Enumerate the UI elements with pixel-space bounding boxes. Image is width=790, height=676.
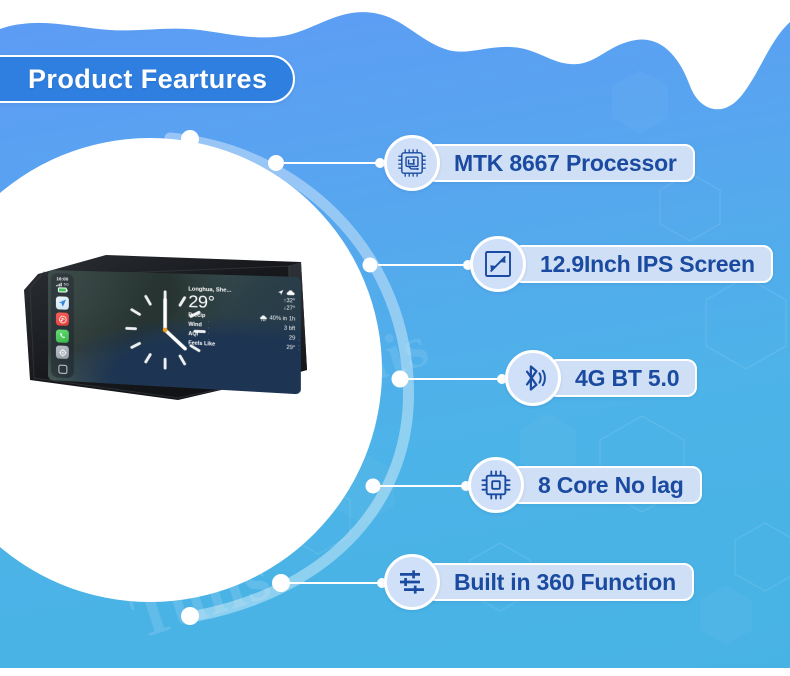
weather-temp: 29° xyxy=(188,292,214,311)
bluetooth-icon xyxy=(505,350,561,406)
feature-row-360[interactable]: Built in 360 Function xyxy=(384,554,694,610)
weather-row-label: Wind xyxy=(188,322,201,329)
gear-icon xyxy=(58,348,66,356)
feature-pill-processor[interactable]: MTK 8667 Processor xyxy=(426,144,695,182)
device-screen[interactable]: 16:00 5G xyxy=(48,270,301,394)
weather-row-label: AQI xyxy=(188,331,198,338)
weather-row-value: 29 xyxy=(289,335,295,342)
weather-row-value: 40% in 1h xyxy=(270,316,296,324)
chip-icon xyxy=(384,135,440,191)
battery-icon xyxy=(58,287,67,292)
home-icon[interactable] xyxy=(58,365,67,375)
feature-pill-bt[interactable]: 4G BT 5.0 xyxy=(547,359,697,397)
car-head-unit-device: 16:00 5G xyxy=(18,252,313,404)
sliders-icon-glyph xyxy=(396,566,428,598)
product-feature-poster: Tulis Tulis xyxy=(0,0,790,676)
screen-size-icon xyxy=(470,236,526,292)
weather-row-value: 29° xyxy=(286,345,295,352)
weather-row-value-wrap: 40% in 1h xyxy=(260,315,296,323)
feature-label: Built in 360 Function xyxy=(454,569,676,596)
cpu-icon xyxy=(468,457,524,513)
page-title: Product Feartures xyxy=(0,55,295,103)
feature-pill-cores[interactable]: 8 Core No lag xyxy=(510,466,702,504)
feature-row-bt[interactable]: 4G BT 5.0 xyxy=(505,350,697,406)
app-dock[interactable] xyxy=(56,296,69,359)
status-time: 16:00 xyxy=(56,276,68,281)
bluetooth-icon-glyph xyxy=(516,361,550,395)
phone-icon[interactable] xyxy=(56,329,69,343)
feature-pill-360[interactable]: Built in 360 Function xyxy=(426,563,694,601)
settings-icon[interactable] xyxy=(56,345,69,359)
weather-widget: Longhua, She... 29° ↑32° ↓27° xyxy=(188,286,295,352)
rain-cloud-icon xyxy=(260,315,268,322)
feature-pill-screen[interactable]: 12.9Inch IPS Screen xyxy=(512,245,773,283)
weather-row-value: 3 bft xyxy=(284,326,295,333)
navigation-arrow-icon xyxy=(58,298,67,307)
signal-icon xyxy=(56,282,63,286)
weather-high-low: ↑32° ↓27° xyxy=(284,295,296,314)
feature-label: 8 Core No lag xyxy=(538,472,684,499)
feature-row-processor[interactable]: MTK 8667 Processor xyxy=(384,135,695,191)
feature-row-screen[interactable]: 12.9Inch IPS Screen xyxy=(470,236,773,292)
cpu-icon-glyph xyxy=(479,468,513,502)
feature-label: 12.9Inch IPS Screen xyxy=(540,251,755,278)
feature-row-cores[interactable]: 8 Core No lag xyxy=(468,457,702,513)
music-icon[interactable] xyxy=(56,312,69,326)
handset-icon xyxy=(58,332,66,340)
weather-page-indicator: ··· xyxy=(298,339,300,353)
screen-size-icon-glyph xyxy=(482,248,514,280)
weather-row-label: Precip xyxy=(188,312,205,319)
weather-low: ↓27° xyxy=(284,306,296,314)
maps-icon[interactable] xyxy=(56,296,69,310)
feature-label: MTK 8667 Processor xyxy=(454,150,677,177)
sliders-icon xyxy=(384,554,440,610)
chip-icon-glyph xyxy=(395,146,429,180)
music-note-icon xyxy=(58,315,66,323)
status-network-label: 5G xyxy=(64,282,69,286)
carplay-sidebar[interactable]: 16:00 5G xyxy=(51,273,74,378)
feature-label: 4G BT 5.0 xyxy=(575,365,679,392)
page-title-label: Product Feartures xyxy=(28,64,267,95)
weather-row-label: Feels Like xyxy=(188,340,215,348)
status-network: 5G xyxy=(56,282,69,286)
